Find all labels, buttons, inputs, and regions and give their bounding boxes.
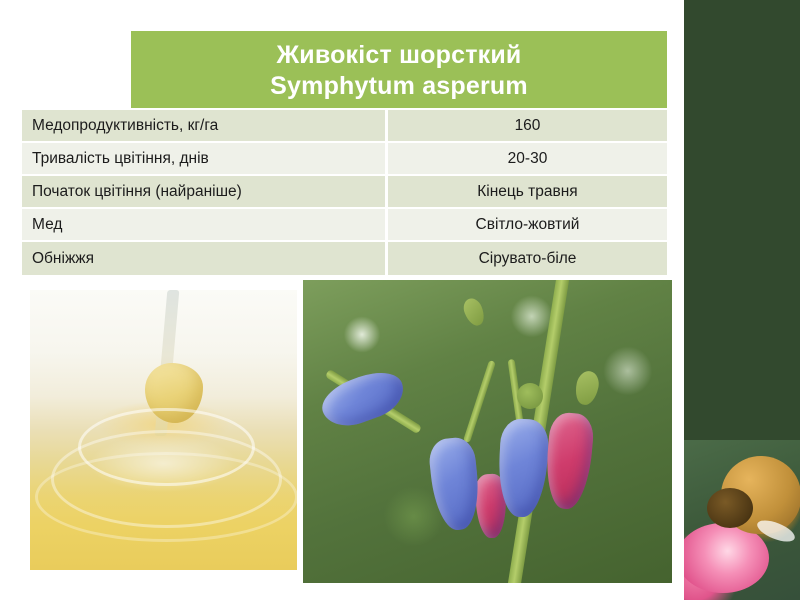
comfrey-flower-photo (303, 280, 672, 583)
honey-ripple-shape (35, 452, 297, 542)
row-value-honey-productivity: 160 (385, 110, 667, 143)
bee-photo (684, 440, 800, 600)
title-line-latin: Symphytum asperum (270, 71, 528, 102)
table-row: Початок цвітіння (найраніше) Кінець трав… (22, 176, 667, 209)
bee-head-shape (707, 488, 753, 528)
table-row: Мед Світло-жовтий (22, 209, 667, 242)
blue-bell-flower-shape (427, 435, 482, 531)
pink-bell-flower-shape (542, 412, 594, 511)
row-value-bloom-duration: 20-30 (385, 143, 667, 176)
slide-title-band: Живокіст шорсткий Symphytum asperum (131, 31, 667, 108)
title-line-ukrainian: Живокіст шорсткий (276, 40, 521, 71)
presentation-slide: Живокіст шорсткий Symphytum asperum Медо… (0, 0, 800, 600)
row-label-bloom-duration: Тривалість цвітіння, днів (22, 143, 385, 176)
row-label-pollen-load: Обніжжя (22, 242, 385, 275)
row-label-honey-productivity: Медопродуктивність, кг/га (22, 110, 385, 143)
flower-bud-shape (573, 369, 602, 407)
plant-facts-table: Медопродуктивність, кг/га 160 Тривалість… (22, 110, 667, 275)
row-value-pollen-load: Сірувато-біле (385, 242, 667, 275)
row-label-honey: Мед (22, 209, 385, 242)
table-body: Медопродуктивність, кг/га 160 Тривалість… (22, 110, 667, 275)
row-label-bloom-start: Початок цвітіння (найраніше) (22, 176, 385, 209)
plant-stem-shape (463, 360, 496, 443)
row-value-bloom-start: Кінець травня (385, 176, 667, 209)
honey-photo (30, 290, 297, 570)
table-row: Медопродуктивність, кг/га 160 (22, 110, 667, 143)
flower-bud-shape (461, 296, 488, 329)
flower-calyx-shape (517, 383, 543, 409)
table-row: Тривалість цвітіння, днів 20-30 (22, 143, 667, 176)
table-row: Обніжжя Сірувато-біле (22, 242, 667, 275)
row-value-honey: Світло-жовтий (385, 209, 667, 242)
